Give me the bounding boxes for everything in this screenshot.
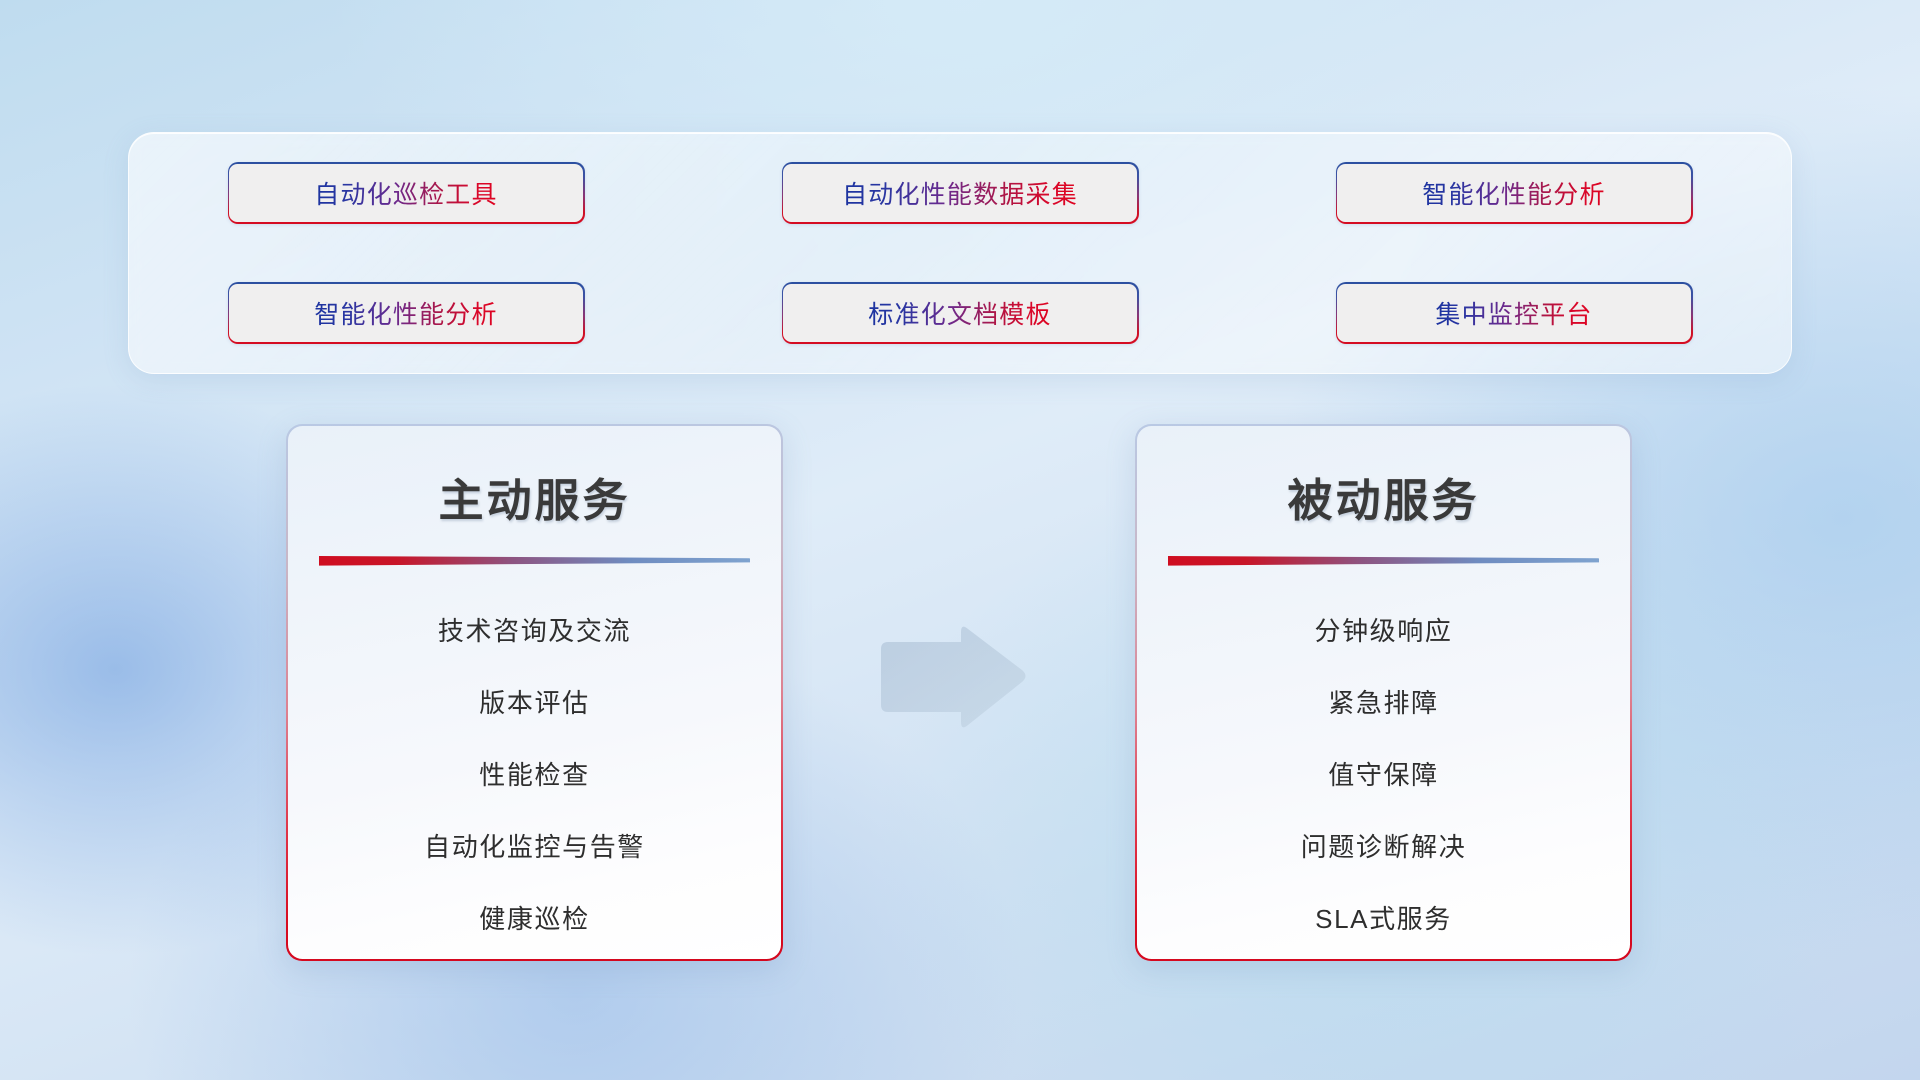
slide-canvas: 自动化巡检工具 自动化性能数据采集 智能化性能分析 智能化性能分析 xyxy=(0,0,1920,1080)
list-item: 健康巡检 xyxy=(479,883,589,955)
capability-tag-inner: 自动化巡检工具 xyxy=(229,164,582,222)
list-item: 分钟级响应 xyxy=(1314,595,1452,667)
flow-arrow-right-icon xyxy=(875,622,1030,732)
capability-tag-inner: 智能化性能分析 xyxy=(229,284,582,342)
list-item: 值守保障 xyxy=(1328,739,1438,811)
list-item: 自动化监控与告警 xyxy=(424,811,645,883)
list-item: 紧急排障 xyxy=(1328,667,1438,739)
service-item-list: 技术咨询及交流 版本评估 性能检查 自动化监控与告警 健康巡检 xyxy=(288,595,782,955)
capability-tag[interactable]: 智能化性能分析 xyxy=(1336,162,1693,224)
title-divider xyxy=(1168,555,1599,567)
service-item-list: 分钟级响应 紧急排障 值守保障 问题诊断解决 SLA式服务 xyxy=(1137,595,1631,955)
capability-tag-inner: 标准化文档模板 xyxy=(783,284,1136,342)
list-item: 版本评估 xyxy=(479,667,589,739)
capability-tag[interactable]: 自动化巡检工具 xyxy=(228,162,585,224)
service-card-title: 主动服务 xyxy=(438,464,630,529)
capability-tag-inner: 智能化性能分析 xyxy=(1337,164,1690,222)
capability-tag-label: 智能化性能分析 xyxy=(314,295,497,331)
capability-tag-label: 智能化性能分析 xyxy=(1422,175,1605,211)
list-item: 问题诊断解决 xyxy=(1301,811,1467,883)
capability-tag-inner: 集中监控平台 xyxy=(1337,284,1690,342)
service-card-proactive[interactable]: 主动服务 技术咨询及交流 xyxy=(286,424,783,961)
capability-tag-inner: 自动化性能数据采集 xyxy=(783,164,1136,222)
capability-tag[interactable]: 标准化文档模板 xyxy=(782,282,1139,344)
capability-tag-label: 自动化性能数据采集 xyxy=(842,175,1078,211)
capability-tag-label: 集中监控平台 xyxy=(1435,295,1592,331)
capability-tag[interactable]: 智能化性能分析 xyxy=(228,282,585,344)
list-item: 技术咨询及交流 xyxy=(438,595,631,667)
list-item: SLA式服务 xyxy=(1315,883,1452,955)
capability-tag[interactable]: 集中监控平台 xyxy=(1336,282,1693,344)
capability-tag-label: 自动化巡检工具 xyxy=(314,175,497,211)
capability-tag-label: 标准化文档模板 xyxy=(868,295,1051,331)
service-card-title: 被动服务 xyxy=(1287,464,1479,529)
capability-tags-panel: 自动化巡检工具 自动化性能数据采集 智能化性能分析 智能化性能分析 xyxy=(128,132,1792,374)
service-card-reactive[interactable]: 被动服务 分钟级响应 xyxy=(1135,424,1632,961)
capability-tag[interactable]: 自动化性能数据采集 xyxy=(782,162,1139,224)
service-card-inner: 主动服务 技术咨询及交流 xyxy=(288,426,782,960)
capability-tag-grid: 自动化巡检工具 自动化性能数据采集 智能化性能分析 智能化性能分析 xyxy=(129,133,1791,373)
list-item: 性能检查 xyxy=(479,739,589,811)
service-card-inner: 被动服务 分钟级响应 xyxy=(1137,426,1631,960)
title-divider xyxy=(319,555,750,567)
